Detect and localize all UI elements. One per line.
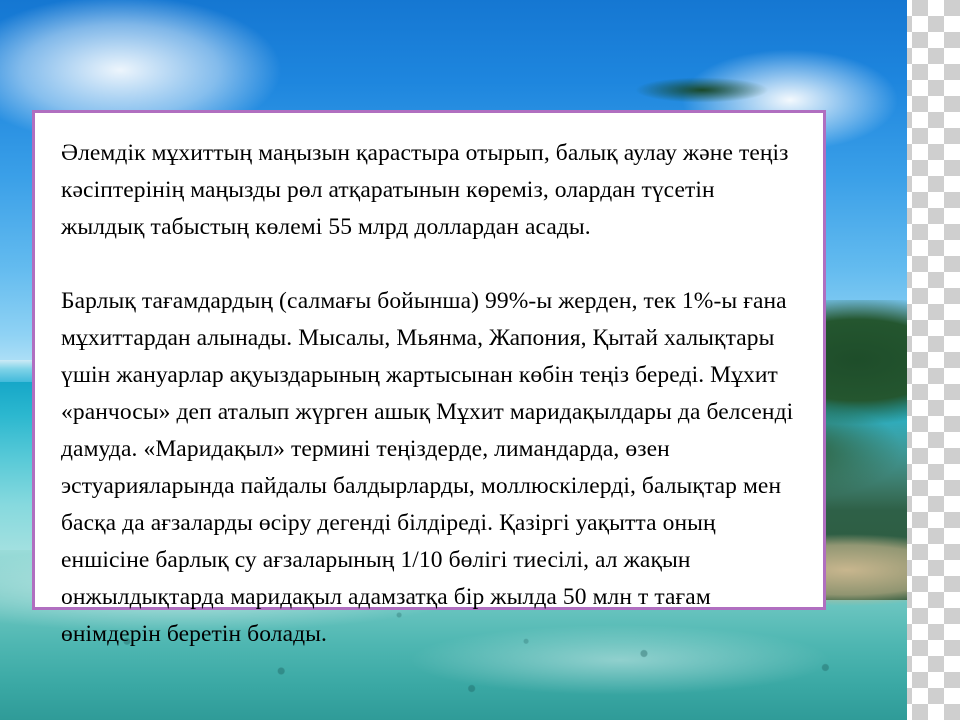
paragraph-2: Барлық тағамдардың (салмағы бойынша) 99%… <box>61 283 797 653</box>
text-card: Әлемдік мұхиттың маңызын қарастыра отыры… <box>32 110 826 610</box>
slide: Әлемдік мұхиттың маңызын қарастыра отыры… <box>0 0 907 720</box>
paragraph-1: Әлемдік мұхиттың маңызын қарастыра отыры… <box>61 135 797 246</box>
screenshot-canvas: Әлемдік мұхиттың маңызын қарастыра отыры… <box>0 0 960 720</box>
